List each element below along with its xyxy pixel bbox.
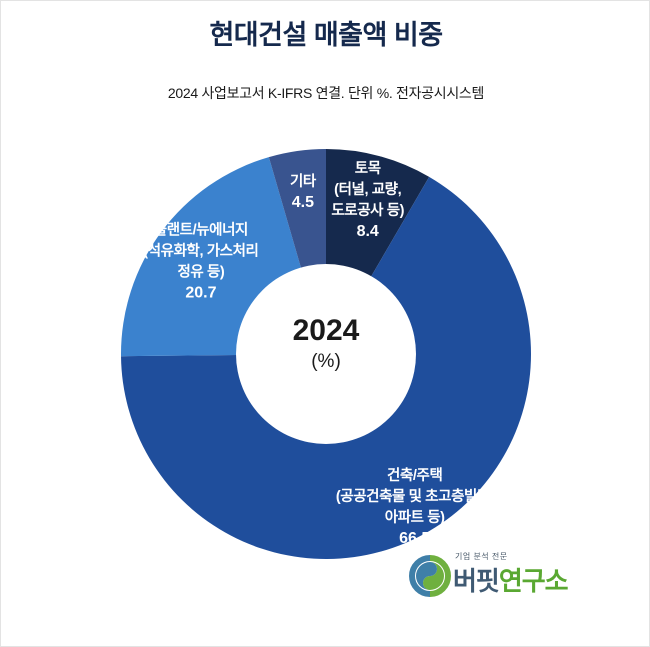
slice-text-plant-0: 플랜트/뉴에너지: [154, 222, 248, 239]
buffett-lab-swirl-icon: [409, 555, 451, 597]
slice-text-plant-2: 정유 등): [177, 263, 224, 281]
slice-text-building-1: (공공건축물 및 초고층빌딩,: [336, 487, 494, 505]
chart-page: 현대건설 매출액 비중 2024 사업보고서 K-IFRS 연결. 단위 %. …: [0, 0, 650, 647]
slice-value-building: 66.5: [399, 530, 430, 547]
logo-name: 버핏연구소: [453, 561, 568, 598]
slice-text-building-2: 아파트 등): [385, 509, 445, 526]
donut-chart: 2024 (%) 토목(터널, 교량,도로공사 등)8.4건축/주택(공공건축물…: [119, 147, 533, 561]
slice-text-building-0: 건축/주택: [387, 466, 442, 484]
slice-text-civil-0: 토목: [355, 160, 381, 177]
slice-text-civil-1: (터널, 교량,: [334, 180, 401, 198]
slice-value-other: 4.5: [292, 194, 314, 211]
logo-name-part2: 연구소: [499, 566, 568, 596]
slice-text-other-0: 기타: [290, 173, 317, 190]
page-title: 현대건설 매출액 비중: [1, 19, 650, 53]
center-unit-label: (%): [311, 351, 341, 372]
logo-name-part1: 버핏: [453, 566, 499, 596]
center-year-label: 2024: [293, 314, 360, 347]
slice-text-civil-2: 도로공사 등): [331, 202, 404, 219]
slice-text-plant-1: (석유화학, 가스처리: [143, 242, 258, 260]
slice-value-plant: 20.7: [185, 285, 216, 302]
brand-logo: 기업 분석 전문 버핏연구소: [409, 549, 579, 605]
slice-value-civil: 8.4: [357, 223, 379, 240]
chart-subtitle: 2024 사업보고서 K-IFRS 연결. 단위 %. 전자공시시스템: [1, 83, 650, 103]
donut-chart-svg: 2024 (%) 토목(터널, 교량,도로공사 등)8.4건축/주택(공공건축물…: [119, 147, 533, 561]
